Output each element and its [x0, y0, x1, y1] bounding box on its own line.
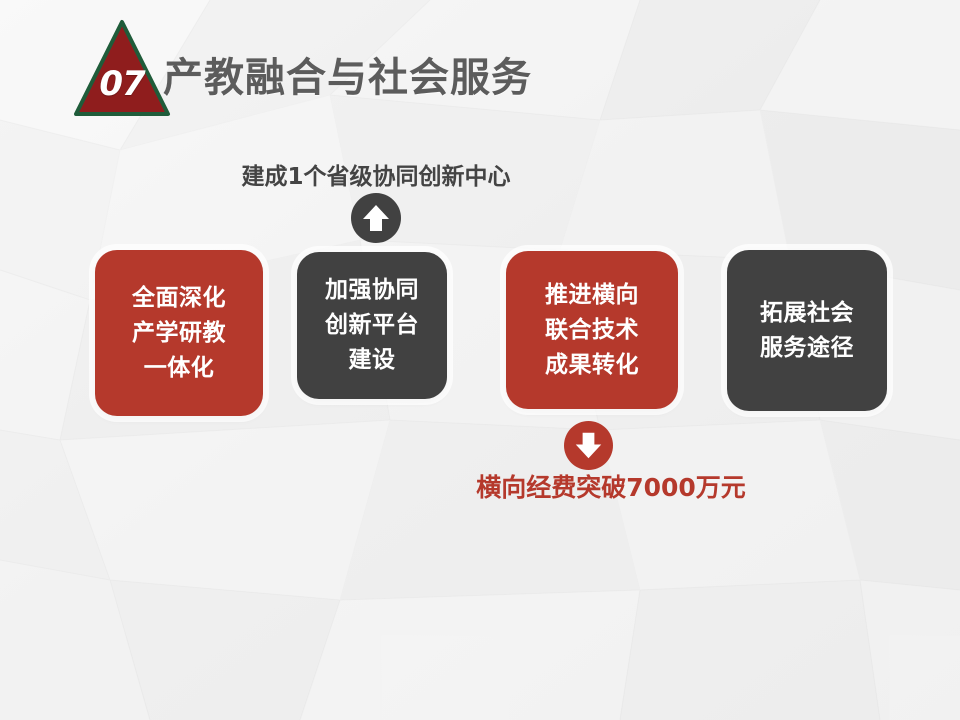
slide-canvas: 07 产教融合与社会服务 建成1个省级协同创新中心 全面深化 产学研教 一体化 … — [0, 0, 960, 720]
process-card-3[interactable]: 推进横向 联合技术 成果转化 — [506, 251, 678, 409]
section-number-badge: 07 — [73, 18, 171, 118]
arrow-down-icon — [564, 421, 613, 470]
process-card-1[interactable]: 全面深化 产学研教 一体化 — [95, 250, 263, 416]
bottom-annotation-label: 横向经费突破7000万元 — [411, 472, 811, 504]
page-title: 产教融合与社会服务 — [163, 54, 532, 102]
slide-header: 07 产教融合与社会服务 — [0, 0, 960, 140]
process-card-4-label: 拓展社会 服务途径 — [760, 296, 854, 366]
badge-number-label: 07 — [73, 67, 171, 101]
arrow-up-icon — [351, 193, 401, 243]
process-card-4[interactable]: 拓展社会 服务途径 — [727, 250, 887, 411]
process-card-3-label: 推进横向 联合技术 成果转化 — [545, 278, 639, 383]
process-card-1-label: 全面深化 产学研教 一体化 — [132, 281, 226, 386]
process-card-2[interactable]: 加强协同 创新平台 建设 — [297, 252, 447, 399]
process-card-2-label: 加强协同 创新平台 建设 — [325, 273, 419, 378]
top-annotation-label: 建成1个省级协同创新中心 — [176, 162, 576, 192]
